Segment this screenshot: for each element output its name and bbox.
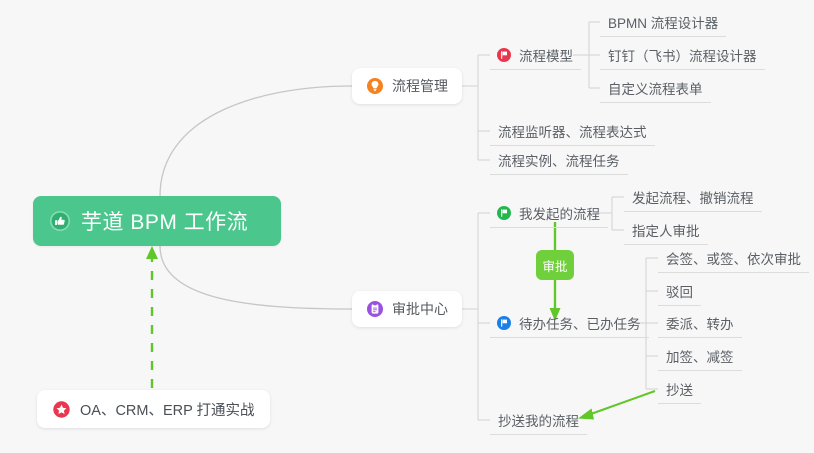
node-process-listener[interactable]: 流程监听器、流程表达式: [490, 116, 655, 146]
thumbs-up-icon: [49, 210, 71, 232]
flag-icon: [496, 47, 512, 63]
node-countersign[interactable]: 会签、或签、依次审批: [658, 243, 809, 273]
branch-label-approval-center: 审批中心: [392, 299, 448, 319]
branch-node-approval-center[interactable]: 审批中心: [352, 291, 462, 327]
node-label-start-cancel-process: 发起流程、撤销流程: [632, 187, 754, 207]
node-label-cc: 抄送: [666, 379, 693, 399]
flag-icon: [496, 205, 512, 221]
node-label-process-model: 流程模型: [519, 45, 573, 65]
node-label-delegate-transfer: 委派、转办: [666, 313, 734, 333]
node-label-todo-done-tasks: 待办任务、已办任务: [519, 313, 641, 333]
node-label-bpmn-designer: BPMN 流程设计器: [608, 12, 718, 32]
approval-tag-label: 审批: [542, 256, 567, 275]
star-icon: [52, 400, 71, 419]
node-label-reject: 驳回: [666, 281, 693, 301]
lightbulb-icon: [366, 77, 384, 95]
root-label: 芋道 BPM 工作流: [81, 206, 248, 236]
node-label-my-initiated-process: 我发起的流程: [519, 203, 600, 223]
node-label-dingtalk-designer: 钉钉（飞书）流程设计器: [608, 45, 757, 65]
node-custom-form[interactable]: 自定义流程表单: [600, 73, 711, 103]
root-node[interactable]: 芋道 BPM 工作流: [33, 196, 281, 246]
node-dingtalk-designer[interactable]: 钉钉（飞书）流程设计器: [600, 40, 765, 70]
callout-node-integration[interactable]: OA、CRM、ERP 打通实战: [37, 390, 270, 428]
node-label-add-remove-sign: 加签、减签: [666, 346, 734, 366]
callout-label: OA、CRM、ERP 打通实战: [80, 399, 255, 420]
node-process-model[interactable]: 流程模型: [490, 40, 581, 70]
node-cc-to-me[interactable]: 抄送我的流程: [490, 405, 587, 435]
node-add-remove-sign[interactable]: 加签、减签: [658, 341, 742, 371]
node-start-cancel-process[interactable]: 发起流程、撤销流程: [624, 182, 762, 212]
node-label-cc-to-me: 抄送我的流程: [498, 410, 579, 430]
approval-tag: 审批: [536, 250, 574, 280]
branch-node-process-management[interactable]: 流程管理: [352, 68, 462, 104]
mindmap-canvas: 芋道 BPM 工作流 流程管理 审批中心: [0, 0, 814, 453]
node-todo-done-tasks[interactable]: 待办任务、已办任务: [490, 308, 649, 338]
node-label-custom-form: 自定义流程表单: [608, 78, 703, 98]
node-cc[interactable]: 抄送: [658, 374, 701, 404]
node-my-initiated-process[interactable]: 我发起的流程: [490, 198, 608, 228]
node-bpmn-designer[interactable]: BPMN 流程设计器: [600, 7, 726, 37]
node-label-designated-approver: 指定人审批: [632, 220, 700, 240]
node-label-process-instance: 流程实例、流程任务: [498, 150, 620, 170]
node-reject[interactable]: 驳回: [658, 276, 701, 306]
node-label-countersign: 会签、或签、依次审批: [666, 248, 801, 268]
clipboard-icon: [366, 300, 384, 318]
flag-icon: [496, 315, 512, 331]
branch-label-process-management: 流程管理: [392, 76, 448, 96]
node-process-instance[interactable]: 流程实例、流程任务: [490, 145, 628, 175]
node-delegate-transfer[interactable]: 委派、转办: [658, 308, 742, 338]
node-label-process-listener: 流程监听器、流程表达式: [498, 121, 647, 141]
node-designated-approver[interactable]: 指定人审批: [624, 215, 708, 245]
